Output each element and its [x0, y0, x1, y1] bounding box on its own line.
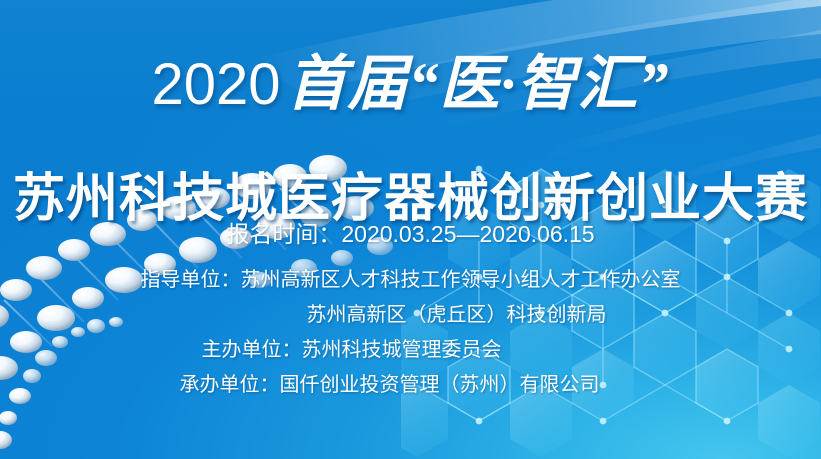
poster-content: 2020首届“医·智汇” 苏州科技城医疗器械创新创业大赛 报名时间：2020.0…: [0, 0, 821, 459]
guidance-unit-line: 指导单位：苏州高新区人才科技工作领导小组人才工作办公室: [0, 263, 821, 298]
registration-period: 报名时间：2020.03.25—2020.06.15: [0, 219, 821, 249]
title-script-rest: 首届“医·智汇”: [287, 51, 670, 117]
host-unit-line: 主办单位：苏州科技城管理委员会: [0, 333, 821, 368]
title-script-line: 2020首届“医·智汇”: [0, 50, 821, 119]
organizer-unit-line: 承办单位：国仟创业投资管理（苏州）有限公司: [0, 368, 821, 403]
poster-canvas: 2020首届“医·智汇” 苏州科技城医疗器械创新创业大赛 报名时间：2020.0…: [0, 0, 821, 459]
title-year: 2020: [151, 52, 286, 117]
guidance-unit-second-line: 苏州高新区（虎丘区）科技创新局: [0, 298, 821, 333]
organization-list: 指导单位：苏州高新区人才科技工作领导小组人才工作办公室 苏州高新区（虎丘区）科技…: [0, 263, 821, 403]
